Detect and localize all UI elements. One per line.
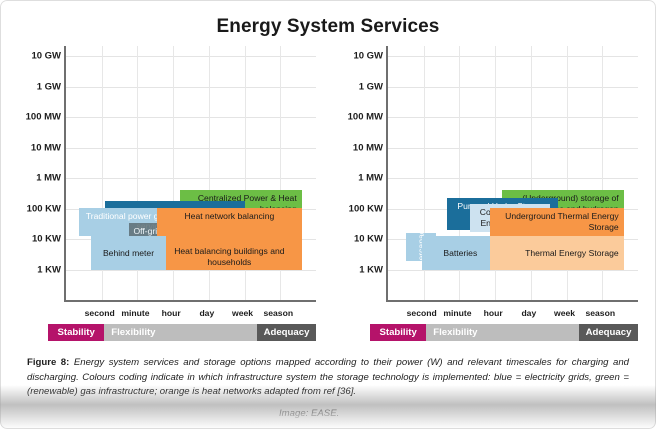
box-label: Underground Thermal Energy Storage (495, 211, 619, 232)
y-axis-tick-label: 10 MW (31, 142, 61, 153)
gridline-horizontal (388, 117, 638, 118)
y-axis-tick-label: 10 MW (353, 142, 383, 153)
box-label: Batteries (443, 248, 477, 258)
plot-boxes-right: (Underground) storage of hydrocarbons an… (388, 46, 638, 300)
figure-caption-label: Figure 8: (27, 357, 69, 368)
chart-panel-storage: 10 GW1 GW100 MW10 MW1 MW100 KW10 KW1 KW … (330, 46, 652, 350)
y-axis-labels-right: 10 GW1 GW100 MW10 MW1 MW100 KW10 KW1 KW (330, 46, 386, 302)
figure-credit: Image: EASE. (279, 408, 339, 419)
x-axis-tick-label: second (407, 308, 437, 318)
plot-area-left: Centralized Power & Heat balancingLarge-… (64, 46, 316, 302)
x-axis-tick-label: hour (162, 308, 181, 318)
gridline-horizontal (66, 270, 316, 271)
box-label: Heat balancing buildings and households (162, 246, 297, 267)
x-axis-tick-label: day (521, 308, 536, 318)
x-axis-line-right (386, 300, 638, 302)
figure-caption: Figure 8: Energy system services and sto… (27, 356, 629, 400)
y-axis-tick-label: 100 KW (27, 203, 61, 214)
box-label: Behind meter (103, 248, 154, 258)
y-axis-tick-label: 100 KW (349, 203, 383, 214)
y-axis-tick-label: 1 KW (37, 265, 61, 276)
y-axis-tick-label: 100 MW (26, 112, 61, 123)
y-axis-tick-label: 1 GW (37, 81, 61, 92)
x-axis-line-left (64, 300, 316, 302)
gridline-horizontal (66, 56, 316, 57)
x-axis-tick-label: season (263, 308, 293, 318)
x-axis-tick-label: minute (121, 308, 149, 318)
y-axis-tick-label: 10 KW (32, 234, 61, 245)
y-axis-tick-label: 100 MW (348, 112, 383, 123)
page-title: Energy System Services (0, 16, 656, 38)
figure-caption-text: Energy system services and storage optio… (27, 357, 629, 397)
legend-segment-flexibility: Flexibility (426, 324, 579, 341)
chart-box: Thermal Energy Storage (490, 236, 624, 270)
gridline-horizontal (388, 148, 638, 149)
gridline-horizontal (388, 178, 638, 179)
gridline-horizontal (66, 87, 316, 88)
x-axis-tick-label: day (199, 308, 214, 318)
box-label: Heat network balancing (184, 211, 274, 221)
x-axis-tick-label: season (585, 308, 615, 318)
gridline-horizontal (388, 270, 638, 271)
chart-box: Batteries (422, 236, 499, 270)
figure-card: Energy System Services 10 GW1 GW100 MW10… (0, 0, 656, 429)
plot-area-right: (Underground) storage of hydrocarbons an… (386, 46, 638, 302)
legend-segment-adequacy: Adequacy (257, 324, 316, 341)
y-axis-tick-label: 1 KW (359, 265, 383, 276)
x-axis-labels-left: secondminutehourdayweekseason (64, 308, 316, 322)
plot-boxes-left: Centralized Power & Heat balancingLarge-… (66, 46, 316, 300)
x-axis-tick-label: week (232, 308, 253, 318)
legend-segment-stability: Stability (48, 324, 104, 341)
y-axis-tick-label: 10 KW (354, 234, 383, 245)
chart-box: Behind meter (91, 236, 166, 270)
y-axis-tick-label: 10 GW (353, 51, 383, 62)
x-axis-tick-label: hour (484, 308, 503, 318)
chart-box: Heat balancing buildings and households (157, 223, 302, 270)
x-axis-tick-label: minute (443, 308, 471, 318)
legend-segment-stability: Stability (370, 324, 426, 341)
legend-segment-flexibility: Flexibility (104, 324, 257, 341)
gridline-horizontal (66, 148, 316, 149)
gridline-horizontal (66, 117, 316, 118)
x-axis-tick-label: second (85, 308, 115, 318)
legend-bar-right: StabilityFlexibilityAdequacy (370, 324, 638, 341)
gridline-horizontal (66, 178, 316, 179)
chart-panel-services: 10 GW1 GW100 MW10 MW1 MW100 KW10 KW1 KW … (8, 46, 332, 350)
x-axis-labels-right: secondminutehourdayweekseason (386, 308, 638, 322)
box-label: Thermal Energy Storage (525, 248, 619, 258)
y-axis-tick-label: 1 MW (358, 173, 383, 184)
y-axis-labels-left: 10 GW1 GW100 MW10 MW1 MW100 KW10 KW1 KW (8, 46, 64, 302)
y-axis-tick-label: 10 GW (31, 51, 61, 62)
legend-segment-adequacy: Adequacy (579, 324, 638, 341)
x-axis-tick-label: week (554, 308, 575, 318)
gridline-horizontal (388, 87, 638, 88)
y-axis-tick-label: 1 MW (36, 173, 61, 184)
y-axis-tick-label: 1 GW (359, 81, 383, 92)
gridline-horizontal (388, 56, 638, 57)
legend-bar-left: StabilityFlexibilityAdequacy (48, 324, 316, 341)
